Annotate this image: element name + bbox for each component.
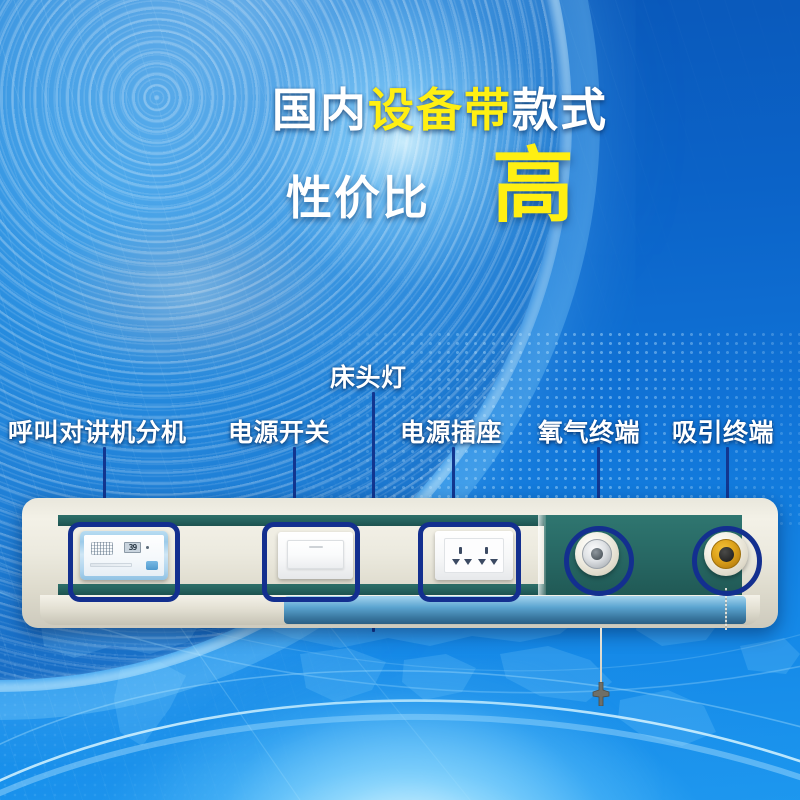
speaker-grille-icon (91, 542, 113, 555)
power-socket-unit[interactable] (435, 531, 513, 580)
callout-label-power-switch: 电源开关 (228, 413, 330, 449)
panel-teal-edge (538, 515, 546, 595)
panel-shell: 39 (22, 498, 778, 628)
switch-mark (309, 546, 323, 548)
oxygen-port-core (591, 548, 603, 560)
callout-label-suction-terminal: 吸引终端 (672, 413, 774, 449)
callout-label-oxygen-terminal: 氧气终端 (538, 413, 640, 449)
headline-part-equipment-belt: 设备带 (368, 84, 512, 136)
bed-head-unit-panel: 39 (22, 498, 778, 628)
headline-part-domestic: 国内 (272, 84, 368, 136)
bottom-horizon-glow (160, 660, 660, 800)
headline-value-text: 性价比 (286, 162, 430, 228)
gas-outlet-icon (711, 539, 741, 569)
status-led-icon (146, 546, 149, 549)
suction-port-core (719, 547, 734, 562)
callout-label-bed-lamp: 床头灯 (330, 358, 407, 394)
headline-line-2: 性价比 高 (0, 148, 800, 228)
intercom-face: 39 (84, 535, 164, 576)
pull-cord-handle-icon[interactable] (592, 682, 610, 706)
oxygen-terminal-outlet[interactable] (575, 532, 619, 576)
callout-label-power-socket: 电源插座 (400, 413, 502, 449)
rocker-switch-icon[interactable] (287, 540, 344, 569)
headline-block: 国内设备带款式 性价比 高 (0, 86, 800, 228)
gas-outlet-icon (582, 539, 612, 569)
callout-label-intercom: 呼叫对讲机分机 (8, 413, 187, 449)
headline-value-emphasis: 高 (492, 148, 574, 226)
intercom-slot (90, 563, 132, 567)
suction-terminal-cord (725, 588, 727, 630)
promo-banner: 国内设备带款式 性价比 高 呼叫对讲机分机 电源开关 床头灯 电源插座 氧气终端… (0, 0, 800, 800)
nurse-call-intercom-unit[interactable]: 39 (80, 531, 168, 580)
power-switch-unit[interactable] (278, 532, 353, 579)
universal-socket-icon (444, 538, 504, 573)
intercom-display: 39 (124, 542, 141, 553)
headline-line-1: 国内设备带款式 (0, 86, 800, 134)
headline-part-style: 款式 (512, 84, 608, 136)
panel-blue-rail (284, 596, 746, 624)
suction-terminal-outlet[interactable] (704, 532, 748, 576)
intercom-call-button[interactable] (146, 561, 158, 570)
bed-lamp-pull-cord[interactable] (600, 628, 602, 688)
